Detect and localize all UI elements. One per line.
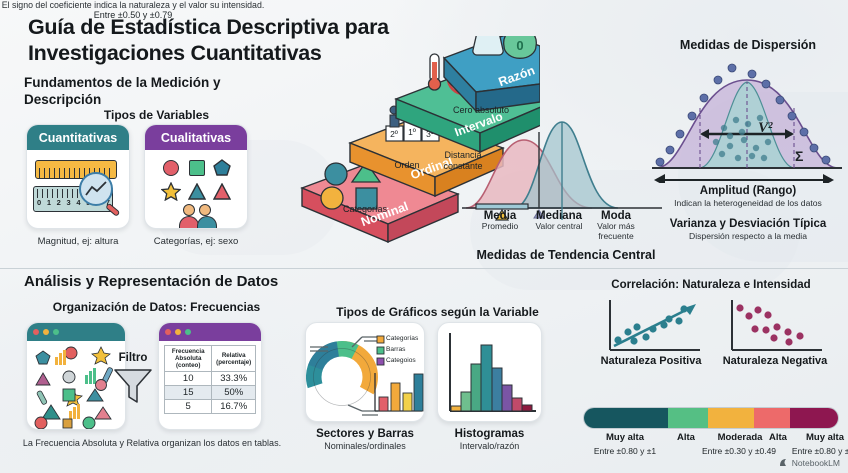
svg-text:1º: 1º	[408, 127, 416, 137]
label-moda: Moda Valor más frecuente	[588, 210, 644, 242]
card-cuantitativas-body: 01234567	[27, 150, 129, 229]
notebooklm-label: NotebookLM	[792, 458, 840, 468]
window-dot-yellow-icon	[175, 329, 181, 335]
heading-tipos-variables: Tipos de Variables	[24, 108, 289, 122]
caption-cualitativas: Categorías, ej: sexo	[136, 236, 256, 247]
scale-seg-alta-left	[668, 408, 709, 428]
dispersion-chart: V² Σ	[652, 58, 842, 183]
svg-text:0: 0	[516, 38, 523, 53]
scale-sub-muy-alta-left: Entre ±0.80 y ±1	[578, 446, 672, 456]
scale-label-muy-alta-left: Muy alta	[583, 432, 667, 443]
sub-varianza: Dispersión respecto a la media	[648, 231, 848, 241]
central-tendency-chart	[462, 114, 662, 224]
stair-sub-nominal: Categorías	[320, 204, 410, 215]
heading-tipos-graficos: Tipos de Gráficos según la Variable	[305, 305, 570, 319]
col-relativa: Relativa (percentaje)	[212, 346, 256, 372]
shape-triangle-red-icon	[213, 183, 231, 200]
window-dot-yellow-icon	[43, 329, 49, 335]
heading-dispersion: Medidas de Dispersión	[648, 38, 848, 52]
label-mediana: Mediana Valor central	[528, 210, 590, 232]
legend-item-categorias: Categorías	[386, 333, 418, 344]
frequency-table: Frecuencia Absoluta (conteo) Relativa (p…	[164, 345, 256, 414]
person-body-2-icon	[197, 216, 217, 228]
cell-abs-1: 10	[165, 372, 212, 386]
dispersion-range-block: Amplitud (Rango) Indican la heterogeneid…	[648, 185, 848, 208]
window-dot-green-icon	[53, 329, 59, 335]
card-frequency-table[interactable]: Frecuencia Absoluta (conteo) Relativa (p…	[158, 322, 262, 430]
shape-star-yellow-icon	[161, 182, 181, 201]
filter-funnel: Filtro	[110, 352, 156, 411]
magnifier-icon	[79, 172, 113, 206]
shape-circle-red-icon	[163, 160, 179, 176]
person-head-2-icon	[199, 204, 211, 216]
heading-correlacion: Correlación: Naturaleza e Intensidad	[580, 279, 842, 291]
section-divider	[0, 268, 848, 269]
shape-pentagon-blue-icon	[213, 159, 231, 177]
scale-seg-muy-alta-right	[790, 408, 838, 428]
card-cualitativas-title: Cualitativas	[145, 125, 247, 150]
legend-item-categoios: Categoios	[386, 355, 418, 366]
label-naturaleza-positiva: Naturaleza Positiva	[586, 355, 716, 367]
scale-seg-alta-right	[754, 408, 790, 428]
scale-seg-moderada	[708, 408, 754, 428]
legend-item-barras: Barras	[386, 344, 418, 355]
window-bar-table	[159, 323, 261, 341]
card-histograma[interactable]	[437, 322, 542, 422]
card-cuantitativas[interactable]: Cuantitativas 01234567	[26, 124, 130, 229]
section-heading-analisis: Análisis y Representación de Datos	[24, 273, 278, 290]
section-heading-fundamentos: Fundamentos de la Medición y Descripción	[24, 74, 224, 109]
funnel-icon	[110, 364, 156, 406]
svg-text:Σ: Σ	[795, 148, 803, 164]
cell-rel-3: 16.7%	[212, 400, 256, 414]
card-sectores-barras[interactable]: Categorías Barras Categoios	[305, 322, 425, 422]
card-cualitativas[interactable]: Cualitativas	[144, 124, 248, 229]
table-header-row: Frecuencia Absoluta (conteo) Relativa (p…	[165, 346, 256, 372]
frequency-table-wrap: Frecuencia Absoluta (conteo) Relativa (p…	[159, 341, 261, 418]
cell-rel-2: 50%	[212, 386, 256, 400]
donut-legend: Categorías Barras Categoios	[386, 333, 418, 366]
card-cualitativas-body	[145, 150, 247, 229]
cell-abs-2: 15	[165, 386, 212, 400]
label-varianza: Varianza y Desviación Típica	[648, 218, 848, 230]
table-row: 10 33.3%	[165, 372, 256, 386]
card-cuantitativas-title: Cuantitativas	[27, 125, 129, 150]
scatter-positive-chart	[600, 296, 710, 363]
filter-label: Filtro	[110, 352, 156, 364]
scale-seg-muy-alta-left	[584, 408, 668, 428]
correlation-note: El signo del coeficiente indica la natur…	[0, 0, 266, 10]
label-media: Media Promedio	[472, 210, 528, 232]
cell-abs-3: 5	[165, 400, 212, 414]
dispersion-variance-block: Varianza y Desviación Típica Dispersión …	[648, 218, 848, 241]
heading-organizacion-datos: Organización de Datos: Frecuencias	[24, 300, 289, 314]
window-dot-red-icon	[165, 329, 171, 335]
scatter-negative-chart	[722, 296, 832, 363]
sub-amplitud: Indican la heterogeneidad de los datos	[648, 198, 848, 208]
correlation-intensity-scale[interactable]	[583, 407, 839, 429]
scale-label-alta-left: Alta	[665, 432, 707, 443]
window-dot-green-icon	[185, 329, 191, 335]
caption-cuantitativas: Magnitud, ej: altura	[18, 236, 138, 247]
scale-label-muy-alta-right: Muy alta	[790, 432, 848, 443]
label-naturaleza-negativa: Naturaleza Negativa	[710, 355, 840, 367]
heading-tendencia-central: Medidas de Tendencia Central	[466, 248, 666, 262]
label-amplitud: Amplitud (Rango)	[648, 185, 848, 197]
cell-rel-1: 33.3%	[212, 372, 256, 386]
window-dot-red-icon	[33, 329, 39, 335]
person-head-1-icon	[183, 204, 195, 216]
label-histogramas: Histogramas Intervalo/razón	[427, 428, 552, 451]
histogram-chart	[438, 323, 542, 422]
scale-sub-muy-alta-right: Entre ±0.80 y ±1	[776, 446, 848, 456]
label-sectores-barras: Sectores y Barras Nominales/ordinales	[295, 428, 435, 451]
shape-triangle-teal-icon	[188, 183, 206, 200]
table-row: 5 16.7%	[165, 400, 256, 414]
infographic-page: Guía de Estadística Descriptiva para Inv…	[0, 0, 848, 473]
svg-text:2º: 2º	[390, 129, 398, 139]
window-bar-data	[27, 323, 125, 341]
caption-frecuencias: La Frecuencia Absoluta y Relativa organi…	[12, 438, 292, 448]
person-body-1-icon	[179, 216, 199, 228]
col-frecuencia-absoluta: Frecuencia Absoluta (conteo)	[165, 346, 212, 372]
table-row: 15 50%	[165, 386, 256, 400]
svg-text:V²: V²	[758, 120, 773, 136]
notebooklm-watermark: NotebookLM	[778, 457, 840, 468]
notebooklm-logo-icon	[778, 457, 789, 468]
shape-square-green-icon	[189, 160, 205, 176]
